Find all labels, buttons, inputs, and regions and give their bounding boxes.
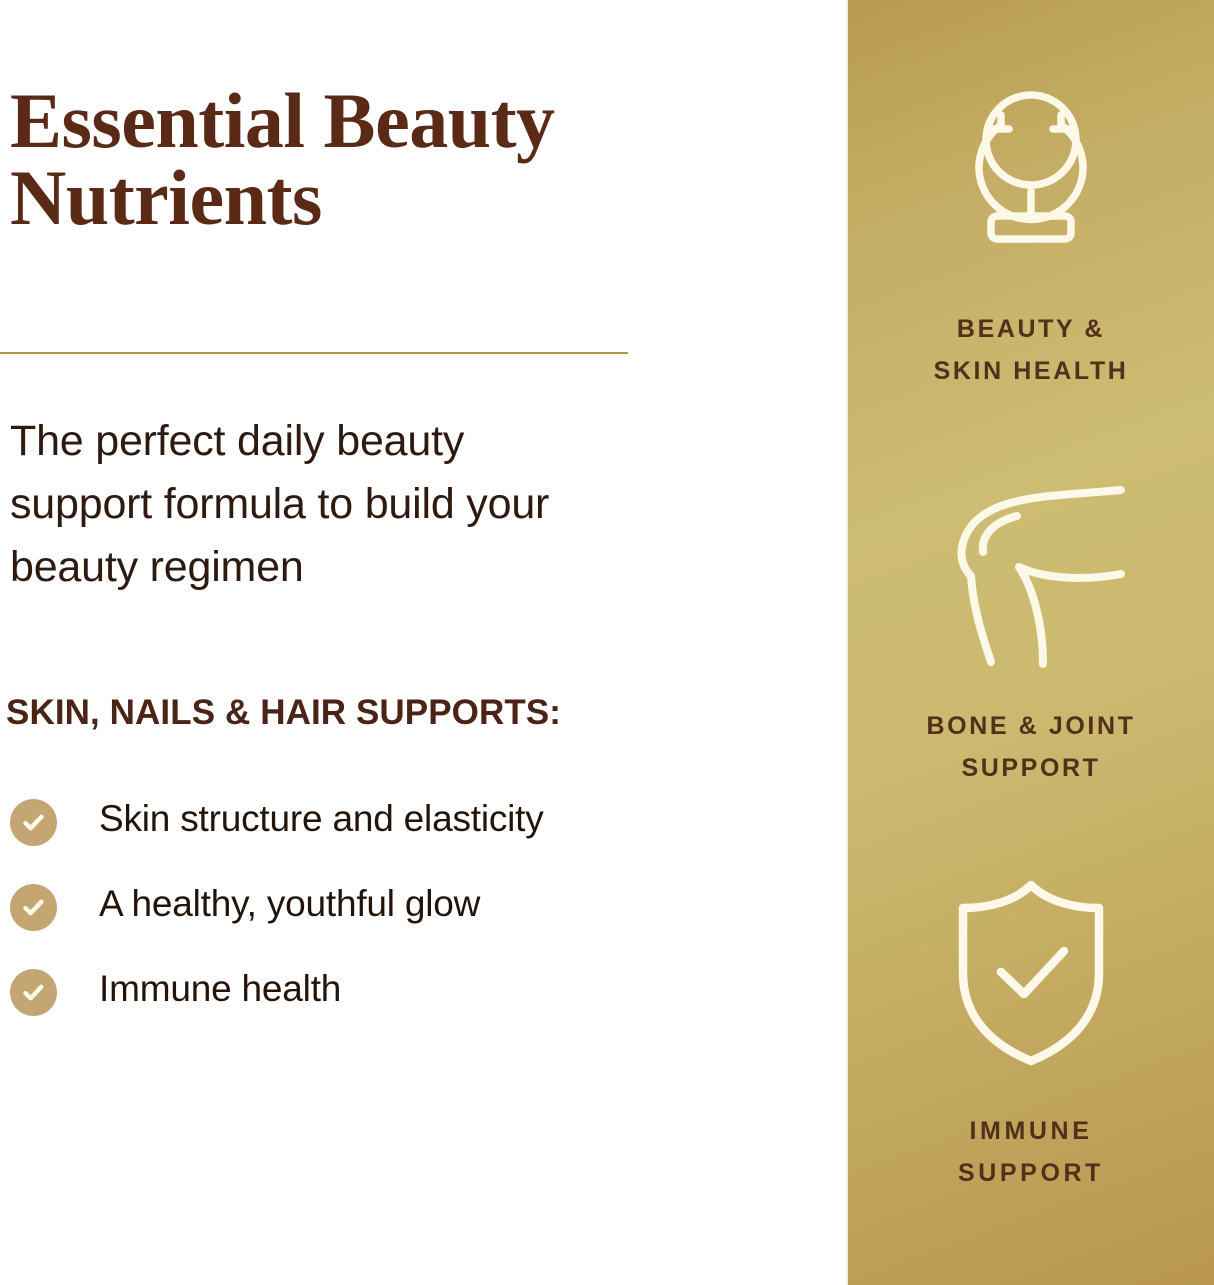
list-item: Immune health xyxy=(10,965,690,1016)
panel-label-bone: BONE & JOINT SUPPORT xyxy=(927,706,1136,789)
panel-block-bone: BONE & JOINT SUPPORT xyxy=(848,472,1214,789)
check-circle-icon xyxy=(10,884,57,931)
subheading-text: The perfect daily beauty support formula… xyxy=(10,410,610,598)
benefit-label: Skin structure and elasticity xyxy=(99,795,544,841)
panel-label-line-1: BEAUTY & xyxy=(957,315,1105,343)
panel-label-line-2: SKIN HEALTH xyxy=(934,357,1129,385)
product-info-graphic: Essential Beauty Nutrients The perfect d… xyxy=(0,0,1214,1285)
check-circle-icon xyxy=(10,799,57,846)
page-title: Essential Beauty Nutrients xyxy=(10,82,800,236)
panel-block-immune: IMMUNE SUPPORT xyxy=(848,875,1214,1194)
title-divider xyxy=(0,352,628,354)
benefit-list: Skin structure and elasticity A healthy,… xyxy=(10,795,690,1050)
benefit-label: A healthy, youthful glow xyxy=(99,880,480,926)
supports-heading: SKIN, NAILS & HAIR SUPPORTS: xyxy=(6,693,561,733)
panel-label-immune: IMMUNE SUPPORT xyxy=(958,1111,1104,1194)
panel-label-beauty: BEAUTY & SKIN HEALTH xyxy=(934,309,1129,392)
benefits-side-panel: BEAUTY & SKIN HEALTH xyxy=(846,0,1214,1285)
knee-joint-icon xyxy=(921,472,1141,672)
check-circle-icon xyxy=(10,969,57,1016)
list-item: Skin structure and elasticity xyxy=(10,795,690,846)
panel-label-line-1: IMMUNE xyxy=(970,1117,1093,1145)
benefit-label: Immune health xyxy=(99,965,341,1011)
left-content-column: Essential Beauty Nutrients The perfect d… xyxy=(0,0,846,1285)
vanity-mirror-icon xyxy=(931,68,1131,283)
panel-label-line-1: BONE & JOINT xyxy=(927,712,1136,740)
list-item: A healthy, youthful glow xyxy=(10,880,690,931)
panel-block-beauty: BEAUTY & SKIN HEALTH xyxy=(848,68,1214,392)
shield-check-icon xyxy=(941,875,1121,1071)
panel-label-line-2: SUPPORT xyxy=(961,754,1100,782)
panel-label-line-2: SUPPORT xyxy=(958,1159,1104,1187)
